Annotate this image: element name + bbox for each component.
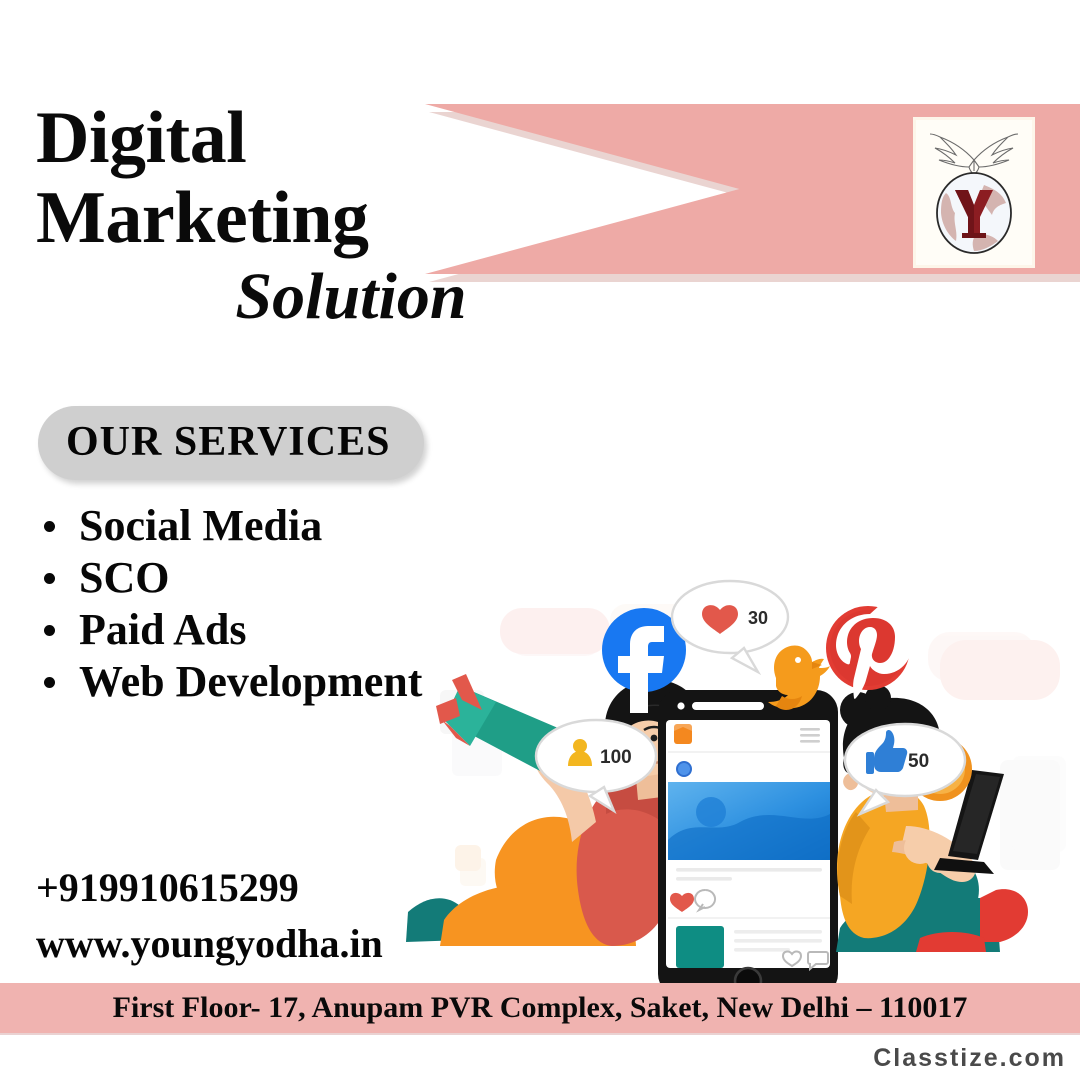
brand-logo bbox=[913, 117, 1035, 268]
hamburger-menu-icon bbox=[800, 728, 820, 743]
likes-bubble: 30 bbox=[672, 581, 788, 672]
headline-line-3: Solution bbox=[36, 258, 596, 336]
poster-canvas: Digital Marketing Solution OUR SERVICES … bbox=[0, 0, 1080, 1080]
list-item: Web Development bbox=[44, 656, 422, 708]
contact-block: +919910615299 www.youngyodha.in bbox=[36, 860, 383, 972]
services-list: Social Media SCO Paid Ads Web Developmen… bbox=[44, 500, 422, 708]
service-label: Web Development bbox=[79, 656, 422, 708]
headline-line-1: Digital bbox=[36, 98, 596, 178]
bullet-icon bbox=[44, 573, 55, 584]
service-label: Social Media bbox=[79, 500, 322, 552]
phone-number: +919910615299 bbox=[36, 860, 383, 916]
list-item: SCO bbox=[44, 552, 422, 604]
eagle-globe-y-logo-icon bbox=[922, 127, 1026, 259]
likes-count: 30 bbox=[748, 608, 768, 628]
man-with-megaphone-figure bbox=[406, 674, 700, 946]
address-text: First Floor- 17, Anupam PVR Complex, Sak… bbox=[113, 991, 968, 1025]
service-label: Paid Ads bbox=[79, 604, 247, 656]
thumbs-count: 50 bbox=[908, 751, 929, 772]
bullet-icon bbox=[44, 625, 55, 636]
address-bar: First Floor- 17, Anupam PVR Complex, Sak… bbox=[0, 983, 1080, 1033]
smartphone-mockup bbox=[658, 690, 838, 996]
social-media-illustration: 30 100 50 bbox=[400, 560, 1080, 1000]
headline-line-2: Marketing bbox=[36, 178, 596, 258]
headline: Digital Marketing Solution bbox=[36, 98, 596, 336]
followers-count: 100 bbox=[600, 747, 632, 768]
pinterest-icon bbox=[826, 605, 914, 699]
our-services-badge: OUR SERVICES bbox=[38, 406, 424, 480]
bullet-icon bbox=[44, 677, 55, 688]
service-label: SCO bbox=[79, 552, 169, 604]
watermark: Classtize.com bbox=[873, 1044, 1066, 1073]
our-services-label: OUR SERVICES bbox=[66, 419, 390, 465]
bullet-icon bbox=[44, 521, 55, 532]
list-item: Social Media bbox=[44, 500, 422, 552]
website-url: www.youngyodha.in bbox=[36, 916, 383, 972]
list-item: Paid Ads bbox=[44, 604, 422, 656]
woman-with-laptop-figure bbox=[836, 685, 1028, 952]
